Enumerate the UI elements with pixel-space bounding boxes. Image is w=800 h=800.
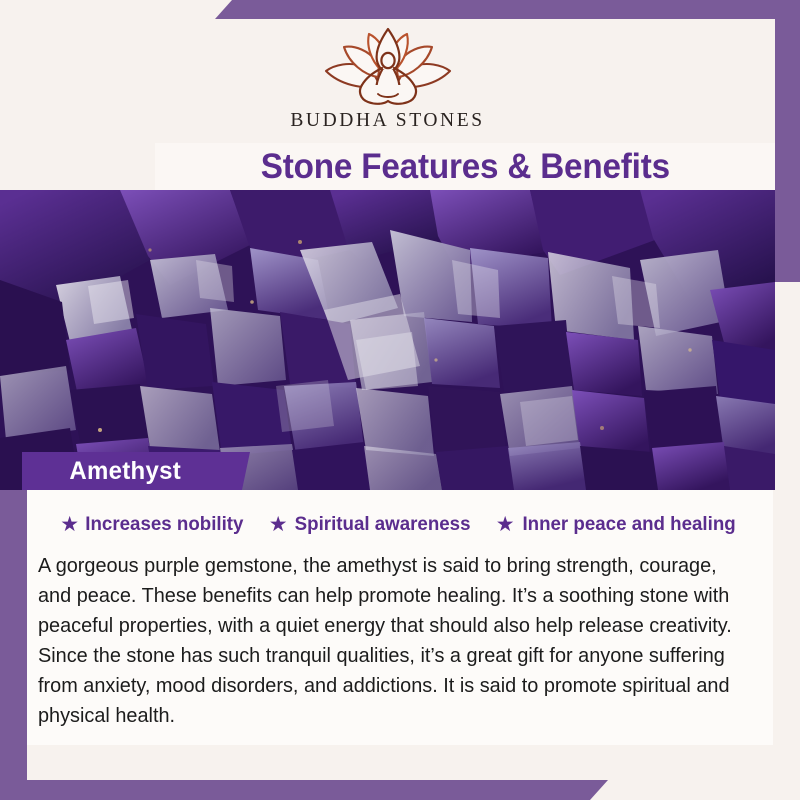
frame-border-bottom [0,780,608,800]
brand-name: BUDDHA STONES [290,110,484,132]
stone-info-poster: BUDDHA STONES [0,0,800,800]
stone-name: Amethyst [69,457,181,486]
star-icon: ★ [496,514,515,535]
star-icon: ★ [60,514,79,535]
benefit-label: Spiritual awareness [294,513,470,536]
frame-border-top [215,0,800,19]
brand-header: BUDDHA STONES [0,19,775,143]
benefits-list: ★ Increases nobility ★ Spiritual awarene… [27,490,773,536]
benefit-item: ★ Increases nobility [60,513,247,536]
stone-name-ribbon: Amethyst [22,452,250,490]
lotus-meditation-icon [312,25,464,109]
benefit-label: Increases nobility [85,513,243,536]
page-title: Stone Features & Benefits [260,147,669,187]
frame-border-right [775,0,800,282]
amethyst-crystal-cluster-photo [0,190,775,490]
stone-description: A gorgeous purple gemstone, the amethyst… [38,551,739,731]
frame-border-left [0,489,27,780]
benefit-item: ★ Inner peace and healing [496,513,740,536]
star-icon: ★ [269,514,288,535]
page-title-band: Stone Features & Benefits [155,143,775,190]
benefit-label: Inner peace and healing [522,513,735,536]
content-card: ★ Increases nobility ★ Spiritual awarene… [27,490,773,745]
benefit-item: ★ Spiritual awareness [269,513,474,536]
